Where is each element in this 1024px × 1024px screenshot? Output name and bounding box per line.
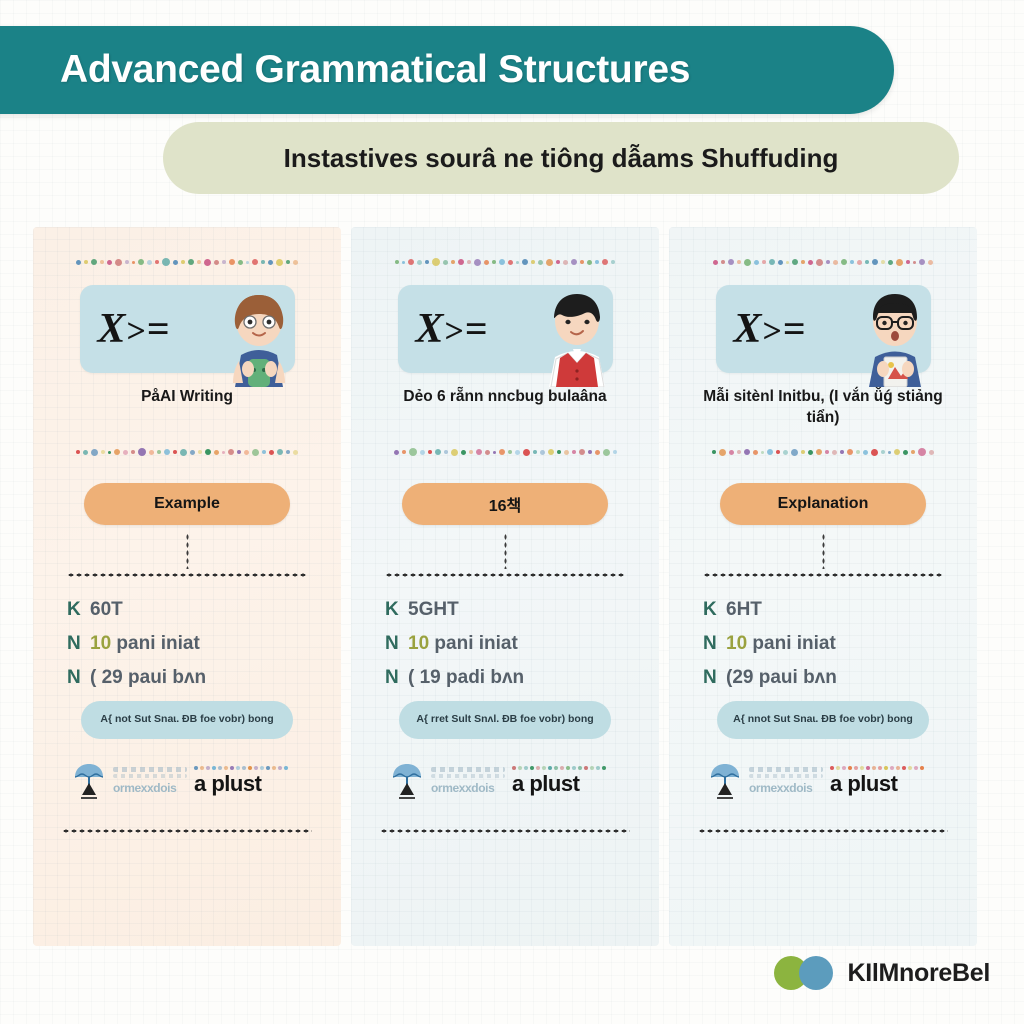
- expression-glyph: X>=: [734, 308, 807, 350]
- brand-strip: ormexxdois a plust: [72, 759, 302, 803]
- brand-ghost-text: ormexxdois: [113, 767, 187, 795]
- brand-dot-row: [830, 766, 938, 770]
- page-title: Advanced Grammatical Structures: [60, 48, 690, 92]
- page-subtitle: Instastives sourâ ne tiông dẫams Shuffud…: [284, 143, 839, 174]
- horizontal-dot-divider: [67, 573, 307, 577]
- detail-line-list: K 6HT N 10 pani iniat N (29 paui bʌn: [703, 599, 953, 689]
- card-column-3[interactable]: X>= Mẫi sitènl: [669, 227, 977, 946]
- example-chip-button[interactable]: 16책: [402, 483, 608, 525]
- umbrella-badge-icon: [390, 761, 424, 801]
- note-pill: A{ rret Sult Snʌl. ƉB foe vobr) bong: [399, 701, 611, 739]
- list-item: N 10 pani iniat: [67, 633, 317, 655]
- card-columns: X>= PåAI Writi: [33, 227, 991, 946]
- vertical-dot-connector: [504, 533, 507, 569]
- line-value: ( 29 paui bʌn: [90, 667, 206, 689]
- line-value: 10 pani iniat: [90, 633, 200, 655]
- example-chip-button[interactable]: Example: [84, 483, 290, 525]
- line-key: N: [67, 633, 81, 655]
- logo-text: KIlMnoreBel: [847, 959, 990, 988]
- brand-dot-row: [194, 766, 302, 770]
- person-glasses-avatar: [851, 287, 939, 387]
- illustration-tile: X>=: [80, 285, 295, 373]
- line-key: N: [67, 667, 81, 689]
- card-caption: Dẻo 6 rẵnn nncbug bulaâna: [377, 387, 633, 433]
- dot-divider-top: [689, 255, 957, 269]
- line-key: N: [703, 633, 717, 655]
- note-pill: A{ nnot Sut Snaɩ. ƉB foe vobr) bong: [717, 701, 929, 739]
- list-item: N ( 19 padi bʌn: [385, 667, 635, 689]
- umbrella-badge-icon: [708, 761, 742, 801]
- horizontal-dot-divider-bottom: [380, 829, 630, 833]
- dot-divider-mid: [371, 445, 639, 459]
- example-chip-button[interactable]: Explanation: [720, 483, 926, 525]
- line-key: K: [385, 599, 399, 621]
- list-item: N (29 paui bʌn: [703, 667, 953, 689]
- detail-line-list: K 5GHT N 10 pani iniat N ( 19 padi bʌn: [385, 599, 635, 689]
- brand-word: a plust: [194, 771, 302, 797]
- brand-word: a plust: [512, 771, 620, 797]
- note-pill: A{ not Sut Snaɩ. ƉB foe vobr) bong: [81, 701, 293, 739]
- girl-brown-hair-avatar: [215, 287, 303, 387]
- expression-glyph: X>=: [98, 308, 171, 350]
- list-item: N 10 pani iniat: [385, 633, 635, 655]
- dot-divider-top: [53, 255, 321, 269]
- line-key: N: [385, 633, 399, 655]
- brand-strip: ormexxdois a plust: [390, 759, 620, 803]
- horizontal-dot-divider: [703, 573, 943, 577]
- dot-divider-mid: [689, 445, 957, 459]
- list-item: N 10 pani iniat: [703, 633, 953, 655]
- line-key: N: [703, 667, 717, 689]
- vertical-dot-connector: [822, 533, 825, 569]
- line-key: N: [385, 667, 399, 689]
- list-item: N ( 29 paui bʌn: [67, 667, 317, 689]
- detail-line-list: K 60T N 10 pani iniat N ( 29 paui bʌn: [67, 599, 317, 689]
- illustration-tile: X>=: [398, 285, 613, 373]
- line-value: 5GHT: [408, 599, 459, 621]
- list-item: K 6HT: [703, 599, 953, 621]
- list-item: K 5GHT: [385, 599, 635, 621]
- horizontal-dot-divider: [385, 573, 625, 577]
- card-column-1[interactable]: X>= PåAI Writi: [33, 227, 341, 946]
- card-column-2[interactable]: X>= Dẻo 6 rẵnn nncbug bulaâna 16책: [351, 227, 659, 946]
- illustration-tile: X>=: [716, 285, 931, 373]
- logo-circles-icon: [774, 956, 834, 990]
- line-key: K: [703, 599, 717, 621]
- line-key: K: [67, 599, 81, 621]
- line-value: (29 paui bʌn: [726, 667, 837, 689]
- brand-dot-row: [512, 766, 620, 770]
- man-red-vest-avatar: [533, 287, 621, 387]
- line-value: 6HT: [726, 599, 762, 621]
- line-value: ( 19 padi bʌn: [408, 667, 524, 689]
- horizontal-dot-divider-bottom: [62, 829, 312, 833]
- expression-glyph: X>=: [416, 308, 489, 350]
- line-value: 10 pani iniat: [408, 633, 518, 655]
- brand-ghost-text: ormexxdois: [431, 767, 505, 795]
- header-bar: Advanced Grammatical Structures: [0, 26, 894, 114]
- dot-divider-top: [371, 255, 639, 269]
- card-caption: Mẫi sitènl Initbu, (I vắn ǚǵ stiảng tiẩn…: [695, 387, 951, 433]
- subtitle-pill: Instastives sourâ ne tiông dẫams Shuffud…: [163, 122, 959, 194]
- vertical-dot-connector: [186, 533, 189, 569]
- card-caption: PåAI Writing: [59, 387, 315, 433]
- line-value: 60T: [90, 599, 123, 621]
- brand-word: a plust: [830, 771, 938, 797]
- footer-logo: KIlMnoreBel: [774, 956, 990, 990]
- horizontal-dot-divider-bottom: [698, 829, 948, 833]
- line-value: 10 pani iniat: [726, 633, 836, 655]
- umbrella-badge-icon: [72, 761, 106, 801]
- list-item: K 60T: [67, 599, 317, 621]
- brand-strip: ormexxdois a plust: [708, 759, 938, 803]
- brand-ghost-text: ormexxdois: [749, 767, 823, 795]
- dot-divider-mid: [53, 445, 321, 459]
